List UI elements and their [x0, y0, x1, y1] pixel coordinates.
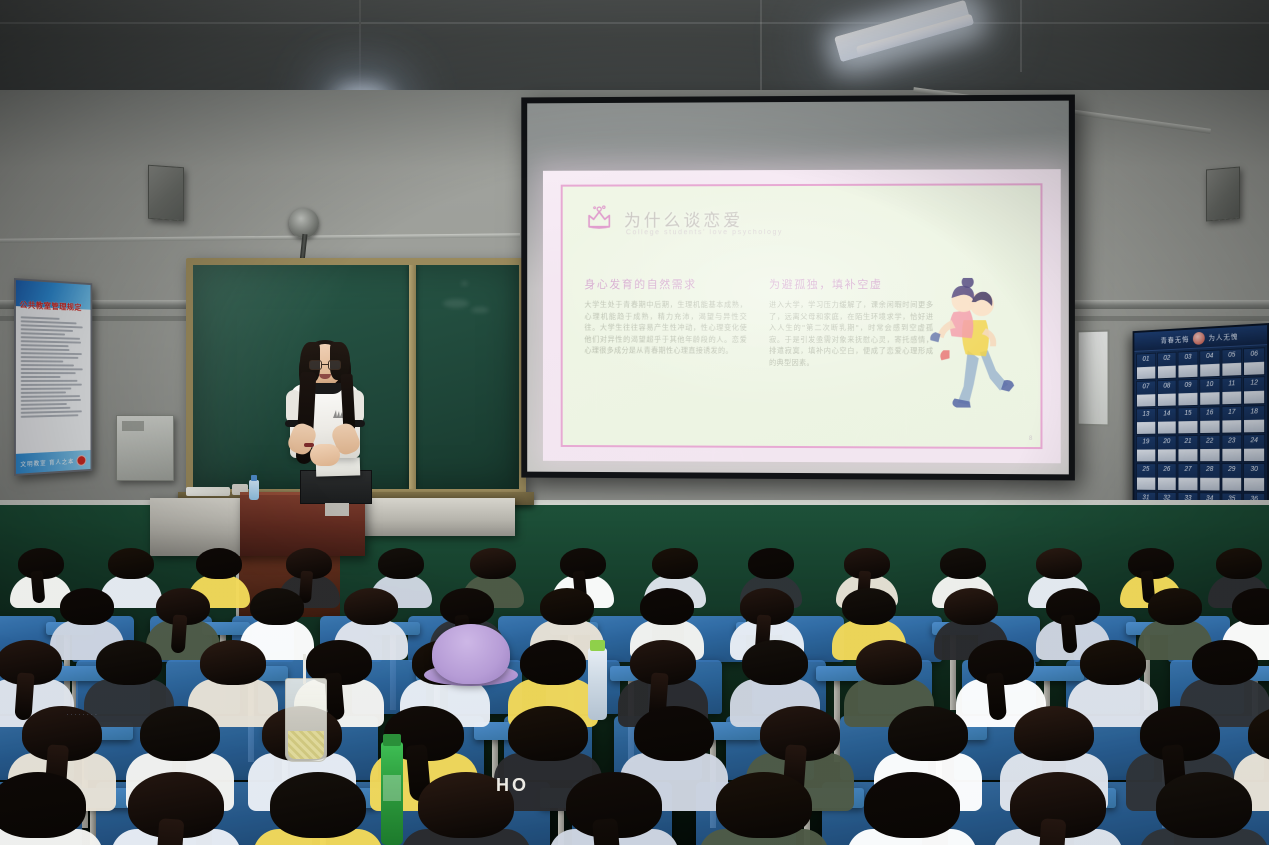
- audience-member-head: [888, 706, 968, 761]
- poster-text-line: [21, 344, 69, 347]
- audience-member-head: [748, 548, 794, 579]
- audience-member-head: [508, 706, 588, 761]
- pocket-slot[interactable]: 30: [1243, 463, 1265, 491]
- audience-member-head: [378, 548, 424, 579]
- poster-text-line: [21, 414, 78, 418]
- audience-member-ponytail: [171, 615, 188, 654]
- pocket-slot-number: 02: [1163, 353, 1170, 364]
- slide-column-body-right: 进入大学，学习压力缓解了，课余闲暇时间更多了，远离父母和家庭，在陌生环境求学，恰…: [769, 299, 933, 369]
- ceiling-seam-vertical: [760, 0, 762, 96]
- pocket-slot-number: 27: [1185, 465, 1192, 476]
- pocket-slot-number: 01: [1143, 354, 1150, 365]
- pocket-slot-number: 14: [1163, 409, 1170, 420]
- audience-shirt-print: · · · · · · · ·: [34, 712, 130, 718]
- projected-slide: 为什么谈恋爱 College students' love psychology…: [543, 169, 1061, 463]
- water-bottle-cap: [590, 640, 605, 651]
- pocket-slot[interactable]: 16: [1199, 406, 1220, 434]
- pocket-slot[interactable]: 10: [1199, 378, 1220, 406]
- ceiling: [0, 0, 1269, 96]
- pocket-slot-number: 29: [1228, 464, 1235, 475]
- pocket-slot-number: 06: [1250, 349, 1257, 360]
- wall-fan-icon: [289, 208, 319, 238]
- ceiling-seam-vertical-2: [1020, 0, 1022, 72]
- pocket-slot-number: 23: [1228, 436, 1235, 447]
- poster-text-line: [21, 316, 60, 320]
- podium-water-bottle: [249, 480, 259, 500]
- audience-member-head: [864, 772, 960, 838]
- audience-member-head: [270, 772, 366, 838]
- presenter-glasses-icon: [309, 360, 341, 370]
- pocket-slot[interactable]: 11: [1221, 377, 1242, 405]
- pocket-slot[interactable]: 12: [1243, 376, 1265, 405]
- audience-member-head: [344, 588, 398, 625]
- audience-member-head: [1036, 548, 1082, 579]
- bubble-tea-pearls: [288, 731, 324, 759]
- pocket-banner-right-text: 为人无愧: [1208, 331, 1238, 342]
- poster-text-line: [21, 356, 79, 359]
- audience-member-head: [250, 588, 304, 625]
- ceiling-seam: [0, 22, 1269, 24]
- audience-member-head: [640, 588, 694, 625]
- audience-member-head: [716, 772, 812, 838]
- poster-text-line: [21, 352, 82, 355]
- pocket-slot[interactable]: 14: [1157, 408, 1177, 435]
- poster-text-line: [21, 340, 81, 343]
- pocket-slot-number: 30: [1250, 464, 1257, 475]
- audience-member-head: [60, 588, 114, 625]
- poster-seal-icon: [77, 454, 87, 465]
- poster-text-line: [21, 388, 72, 390]
- poster-text-line: [21, 410, 82, 413]
- podium-ledge-right: [363, 498, 515, 536]
- slide-content-area: 为什么谈恋爱 College students' love psychology…: [561, 183, 1043, 449]
- pocket-slot[interactable]: 09: [1178, 379, 1199, 407]
- slide-title: 为什么谈恋爱: [624, 206, 743, 231]
- audience-member-head: [140, 706, 220, 761]
- pocket-slot-number: 03: [1185, 352, 1192, 363]
- audience-member: [1010, 772, 1106, 845]
- couple-piggyback-illustration: [923, 278, 1032, 411]
- chalk-pieces: [186, 487, 230, 496]
- pocket-slot[interactable]: 06: [1243, 347, 1265, 376]
- audience-member: [0, 772, 86, 845]
- pocket-slot[interactable]: 22: [1199, 435, 1220, 463]
- audience-member-head: [1080, 640, 1146, 685]
- bubble-tea-straw: [303, 654, 306, 684]
- audience-member-head: [1232, 588, 1269, 625]
- poster-text-line: [21, 360, 64, 362]
- slide-column-right: 为避孤独，填补空虚 进入大学，学习压力缓解了，课余闲暇时间更多了，远离父母和家庭…: [769, 276, 933, 369]
- female-presenter: [276, 344, 372, 504]
- audience-member: [864, 772, 960, 845]
- water-bottle: [588, 648, 607, 720]
- pocket-slot[interactable]: 15: [1178, 407, 1199, 435]
- glasses-lens-right: [328, 360, 341, 370]
- poster-text-line: [21, 348, 70, 351]
- pocket-slot[interactable]: 08: [1157, 380, 1177, 408]
- audience-member: [108, 548, 154, 602]
- poster-text-line: [21, 391, 66, 393]
- audience-member: [566, 772, 662, 845]
- slide-column-heading-left: 身心发育的自然需求: [584, 276, 747, 292]
- audience-member-head: [1248, 706, 1269, 761]
- pocket-slot[interactable]: 07: [1136, 380, 1156, 407]
- pocket-slot[interactable]: 23: [1221, 435, 1242, 463]
- green-soda-bottle-label: [383, 775, 401, 801]
- pocket-slot-number: 26: [1163, 465, 1170, 476]
- slide-column-left: 身心发育的自然需求 大学生处于青春期中后期，生理机能基本成熟，心理机能趋于成熟，…: [584, 276, 747, 368]
- poster-text-line: [21, 403, 67, 406]
- wall-poster: 公共教室管理规定 文明教室 育人之本: [14, 278, 92, 476]
- pocket-slot-number: 16: [1206, 408, 1213, 419]
- pocket-slot[interactable]: 25: [1136, 464, 1156, 491]
- wall-speaker-right: [1206, 167, 1240, 222]
- pocket-slot-number: 13: [1143, 409, 1150, 420]
- poster-body-lines: [21, 316, 86, 453]
- pocket-slot-number: 07: [1143, 382, 1150, 393]
- pocket-slot[interactable]: 27: [1178, 464, 1199, 491]
- audience-member-head: [196, 548, 242, 579]
- classroom-photo: 公共教室管理规定 文明教室 育人之本 青春无悔 为人无愧 01020304050…: [0, 0, 1269, 845]
- crown-book-icon: [584, 204, 614, 232]
- projection-screen: 为什么谈恋爱 College students' love psychology…: [521, 95, 1075, 481]
- audience-member: [18, 548, 64, 602]
- pocket-banner-left-text: 青春无悔: [1161, 334, 1190, 345]
- pocket-slot-number: 10: [1206, 379, 1213, 390]
- poster-text-line: [21, 372, 76, 374]
- poster-text-line: [21, 376, 61, 378]
- pocket-slot-number: 05: [1228, 350, 1235, 361]
- audience-member-head: [742, 640, 808, 685]
- pocket-slot-number: 20: [1163, 437, 1170, 448]
- audience-member-head: [200, 640, 266, 685]
- pocket-slot[interactable]: 18: [1243, 405, 1265, 433]
- pocket-slot-number: 21: [1185, 436, 1192, 447]
- pocket-slot[interactable]: 29: [1221, 463, 1242, 491]
- audience-member-head: [1156, 772, 1252, 838]
- audience-member-head: [1192, 640, 1258, 685]
- audience-member-head: [520, 640, 586, 685]
- presenter-hands: [310, 444, 340, 466]
- poster-text-line: [21, 395, 80, 398]
- bubble-tea-cup: [285, 678, 327, 762]
- audience-member-head: [540, 588, 594, 625]
- audience-member-head: [1216, 548, 1262, 579]
- pocket-slot[interactable]: 04: [1199, 349, 1220, 377]
- poster-text-line: [21, 336, 80, 340]
- audience-member-ponytail: [1037, 818, 1067, 845]
- audience-member-head: [1014, 706, 1094, 761]
- glasses-lens-left: [309, 360, 322, 370]
- audience-member-head: [96, 640, 162, 685]
- pocket-slot[interactable]: 05: [1221, 348, 1242, 377]
- poster-text-line: [21, 380, 78, 382]
- poster-text-line: [21, 364, 74, 366]
- tablet-arm-desk[interactable]: [1026, 666, 1084, 681]
- audience-member-head: [1148, 588, 1202, 625]
- pocket-slot-number: 25: [1143, 465, 1150, 475]
- audience-member-head: [108, 548, 154, 579]
- audience-member-head: [856, 640, 922, 685]
- pocket-slot-number: 19: [1143, 437, 1150, 448]
- poster-text-line: [21, 407, 71, 410]
- slide-column-heading-right: 为避孤独，填补空虚: [769, 276, 933, 292]
- slide-column-body-left: 大学生处于青春期中后期，生理机能基本成熟，心理机能趋于成熟，精力充沛，渴望与异性…: [584, 299, 747, 357]
- audience-member-head: [470, 548, 516, 579]
- slide-header: 为什么谈恋爱: [584, 204, 743, 232]
- pocket-slot[interactable]: 26: [1157, 464, 1177, 491]
- poster-text-line: [21, 399, 81, 402]
- pocket-slot-number: 28: [1206, 465, 1213, 476]
- audience-member: [1156, 772, 1252, 845]
- wall-speaker-left: [148, 165, 184, 222]
- pocket-slot-number: 08: [1163, 381, 1170, 392]
- poster-text-line: [21, 384, 82, 386]
- pocket-slot[interactable]: 24: [1243, 434, 1265, 462]
- green-soda-bottle-cap: [383, 734, 401, 746]
- poster-footer: 文明教室 育人之本: [16, 450, 91, 474]
- audience-member-head: [0, 772, 86, 838]
- audience-member-head: [634, 706, 714, 761]
- audience-member-head: [940, 548, 986, 579]
- poster-text-line: [21, 328, 73, 332]
- pocket-slot-number: 18: [1250, 407, 1257, 418]
- small-whiteboard: [1077, 330, 1110, 427]
- slide-subtitle: College students' love psychology: [626, 229, 783, 236]
- pocket-slot[interactable]: 02: [1157, 352, 1177, 380]
- poster-text-line: [21, 368, 83, 370]
- pocket-slot-number: 11: [1228, 378, 1235, 389]
- pocket-slot[interactable]: 19: [1136, 436, 1156, 463]
- pocket-slot[interactable]: 13: [1136, 408, 1156, 435]
- audience-member-head: [652, 548, 698, 579]
- pendant-cord: [359, 0, 361, 96]
- pocket-slot-number: 15: [1185, 408, 1192, 419]
- pocket-slot[interactable]: 28: [1199, 464, 1220, 492]
- utility-box-tag: [122, 421, 144, 431]
- pocket-slot-number: 09: [1185, 380, 1192, 391]
- pocket-slot[interactable]: 01: [1136, 353, 1156, 381]
- pocket-slot[interactable]: 17: [1221, 406, 1242, 434]
- pocket-banner-seal-icon: [1193, 332, 1205, 345]
- pocket-slot-number: 12: [1250, 378, 1257, 389]
- glasses-bridge: [322, 364, 328, 365]
- podium-monitor-stand: [325, 503, 349, 516]
- pocket-slot-number: 04: [1206, 351, 1213, 362]
- audience-member: [128, 772, 224, 845]
- pocket-slot-number: 22: [1206, 436, 1213, 447]
- audience-member-head: [842, 588, 896, 625]
- audience-tee-graphic: HO: [496, 775, 529, 796]
- poster-text-line: [21, 332, 65, 335]
- audience-member-head: [944, 588, 998, 625]
- wall-utility-box: [116, 415, 174, 481]
- pocket-slot-number: 24: [1250, 435, 1257, 446]
- audience-member: [270, 772, 366, 845]
- audience-member-ponytail: [155, 818, 185, 845]
- audience-member: [716, 772, 812, 845]
- purple-bucket-hat: [432, 624, 510, 684]
- pocket-slot-number: 17: [1228, 407, 1235, 418]
- pocket-slot[interactable]: 21: [1178, 435, 1199, 462]
- pocket-slot[interactable]: 20: [1157, 436, 1177, 463]
- pocket-slot[interactable]: 03: [1178, 351, 1199, 379]
- poster-footer-text: 文明教室 育人之本: [20, 456, 74, 468]
- slide-page-number: 8: [1029, 436, 1032, 442]
